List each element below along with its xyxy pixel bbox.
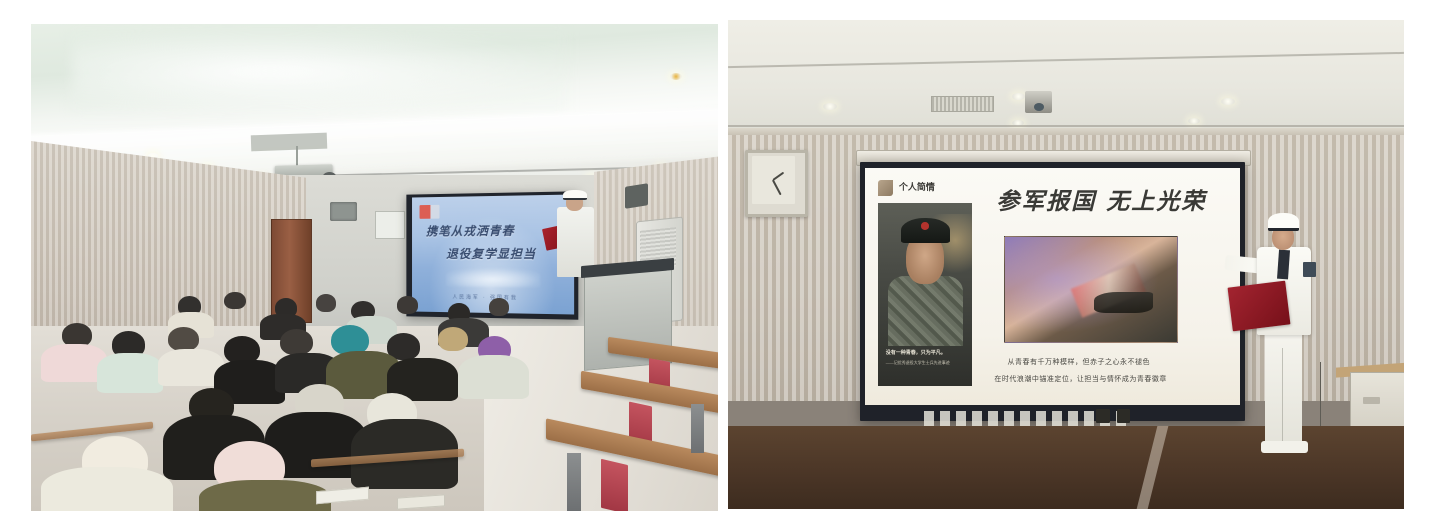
wall-speaker — [625, 183, 648, 209]
ceiling-amber-light-icon — [670, 73, 682, 80]
audience-coat — [199, 480, 331, 511]
audience-coat — [41, 467, 173, 511]
portrait-camouflage-uniform — [888, 276, 963, 345]
seat-post — [691, 404, 705, 453]
audience-coat — [458, 355, 529, 399]
navy-officer-presenting-slide-photo[interactable]: 个人简情 没有一种青春，只为平凡。 ——记优秀退役大学生士兵先进事迹 参军报国 … — [728, 20, 1404, 509]
audience-head — [489, 298, 509, 316]
seat-back — [601, 459, 628, 511]
clock-minute-hand — [772, 179, 781, 195]
cabinet-knob — [1363, 397, 1379, 405]
audience-head — [397, 296, 418, 314]
aircraft-carrier-illustration — [446, 269, 540, 288]
lecture-hall-audience-photo[interactable]: 携笔从戎洒青春 退役复学显担当 人民海军 · 强国有我 — [31, 24, 718, 511]
wall-top-trim — [728, 128, 1404, 135]
downlight-icon — [1188, 118, 1200, 124]
audience-head — [62, 323, 93, 347]
navy-recruitment-logo — [420, 205, 440, 219]
slide-title: 参军报国 无上光荣 — [996, 182, 1206, 216]
slide-caption-line2: 在时代浪潮中锚准定位，让担当与情怀成为青春徽章 — [994, 374, 1167, 384]
officer-shoulder-patch — [1303, 262, 1317, 277]
wall-socket — [1096, 409, 1110, 424]
notebook — [397, 494, 445, 509]
soldier-portrait-photo: 没有一种青春，只为平凡。 ——记优秀退役大学生士兵先进事迹 — [878, 203, 972, 386]
audience-head-beige-beanie — [438, 327, 469, 351]
audience-coat — [97, 353, 163, 392]
projection-screen: 个人简情 没有一种青春，只为平凡。 ——记优秀退役大学生士兵先进事迹 参军报国 … — [865, 168, 1240, 405]
section-badge-icon — [878, 180, 893, 197]
audience-head — [316, 294, 336, 312]
seat-post — [567, 453, 581, 511]
wooden-stage-floor — [728, 426, 1404, 509]
enlistment-notice-handover-photo — [1004, 236, 1178, 342]
audience-head — [280, 329, 313, 355]
desk-edge — [31, 421, 153, 440]
downlight-icon — [823, 103, 837, 110]
photo-gallery: 携笔从戎洒青春 退役复学显担当 人民海军 · 强国有我 — [0, 0, 1440, 530]
wall-notice-frame — [375, 211, 406, 238]
red-presentation-folder — [1227, 281, 1290, 332]
student-audience — [31, 292, 539, 511]
microphone-stand — [1320, 362, 1321, 430]
slide-caption-line1: 从青春有千万种模样，但赤子之心永不褪色 — [1008, 357, 1151, 367]
officer-trousers — [1265, 328, 1302, 445]
ceiling-air-vent — [931, 96, 994, 113]
ceiling — [728, 20, 1404, 142]
portrait-caption-line1: 没有一种青春，只为平凡。 — [886, 349, 946, 356]
officer-peaked-cap — [1268, 213, 1299, 231]
officer-trouser-seam — [1282, 348, 1283, 441]
wall-speaker — [330, 202, 357, 221]
gloved-hand — [1094, 292, 1153, 313]
projector-arm — [296, 146, 298, 167]
portrait-red-star-badge-icon — [921, 222, 928, 229]
portrait-caption-line2: ——记优秀退役大学生士兵先进事迹 — [886, 360, 950, 366]
slide-headline-line2: 退役复学显担当 — [446, 245, 536, 262]
wall-socket — [1117, 409, 1131, 424]
audience-head — [224, 292, 245, 310]
ceiling-light-glow — [72, 29, 567, 112]
officer-white-shoes — [1261, 441, 1308, 454]
slide-headline-line1: 携笔从戎洒青春 — [426, 222, 515, 240]
audience-head — [168, 327, 199, 351]
clock-face — [752, 156, 795, 204]
slide-section-label: 个人简情 — [899, 180, 935, 193]
projector-mount-plate — [251, 132, 327, 150]
officer-peaked-cap — [563, 190, 586, 201]
